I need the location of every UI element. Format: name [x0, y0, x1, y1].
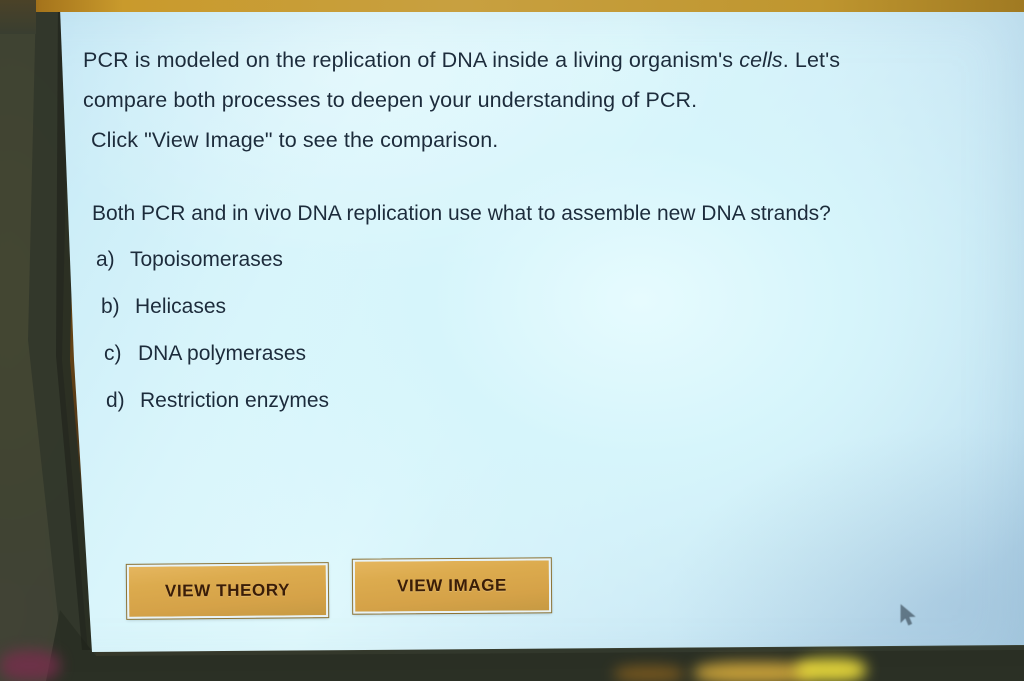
- view-image-button[interactable]: VIEW IMAGE: [353, 558, 551, 613]
- intro-line-1-start: PCR is modeled on the replication of DNA…: [83, 48, 739, 72]
- answer-options-list: a) Topoisomerases b) Helicases c) DNA po…: [96, 248, 716, 436]
- view-theory-button[interactable]: VIEW THEORY: [127, 563, 328, 619]
- option-text-c: DNA polymerases: [138, 342, 306, 366]
- bezel-light-magenta: [0, 650, 60, 681]
- intro-paragraph: PCR is modeled on the replication of DNA…: [83, 40, 963, 160]
- intro-line-1-end: . Let's: [783, 48, 840, 72]
- mouse-pointer-icon: [899, 604, 919, 628]
- bezel-light-yellow: [796, 658, 866, 681]
- option-text-d: Restriction enzymes: [140, 389, 329, 413]
- question-text: Both PCR and in vivo DNA replication use…: [92, 200, 972, 228]
- bezel-light-dim: [614, 666, 684, 681]
- option-text-b: Helicases: [135, 295, 226, 319]
- top-left-dark-corner: [0, 0, 36, 34]
- option-letter-a: a): [96, 248, 130, 272]
- answer-option-b[interactable]: b) Helicases: [96, 295, 716, 342]
- option-letter-d: d): [96, 389, 140, 413]
- option-letter-b: b): [96, 295, 135, 319]
- option-text-a: Topoisomerases: [130, 248, 283, 272]
- option-letter-c: c): [96, 342, 138, 366]
- photographed-screen: PCR is modeled on the replication of DNA…: [0, 0, 1024, 681]
- answer-option-a[interactable]: a) Topoisomerases: [96, 248, 716, 295]
- intro-line-1-emphasis: cells: [739, 48, 783, 72]
- intro-line-2: compare both processes to deepen your un…: [83, 80, 963, 120]
- intro-line-3: Click "View Image" to see the comparison…: [83, 120, 963, 160]
- answer-option-d[interactable]: d) Restriction enzymes: [96, 389, 716, 436]
- top-frame-strip: [0, 0, 1024, 12]
- answer-option-c[interactable]: c) DNA polymerases: [96, 342, 716, 389]
